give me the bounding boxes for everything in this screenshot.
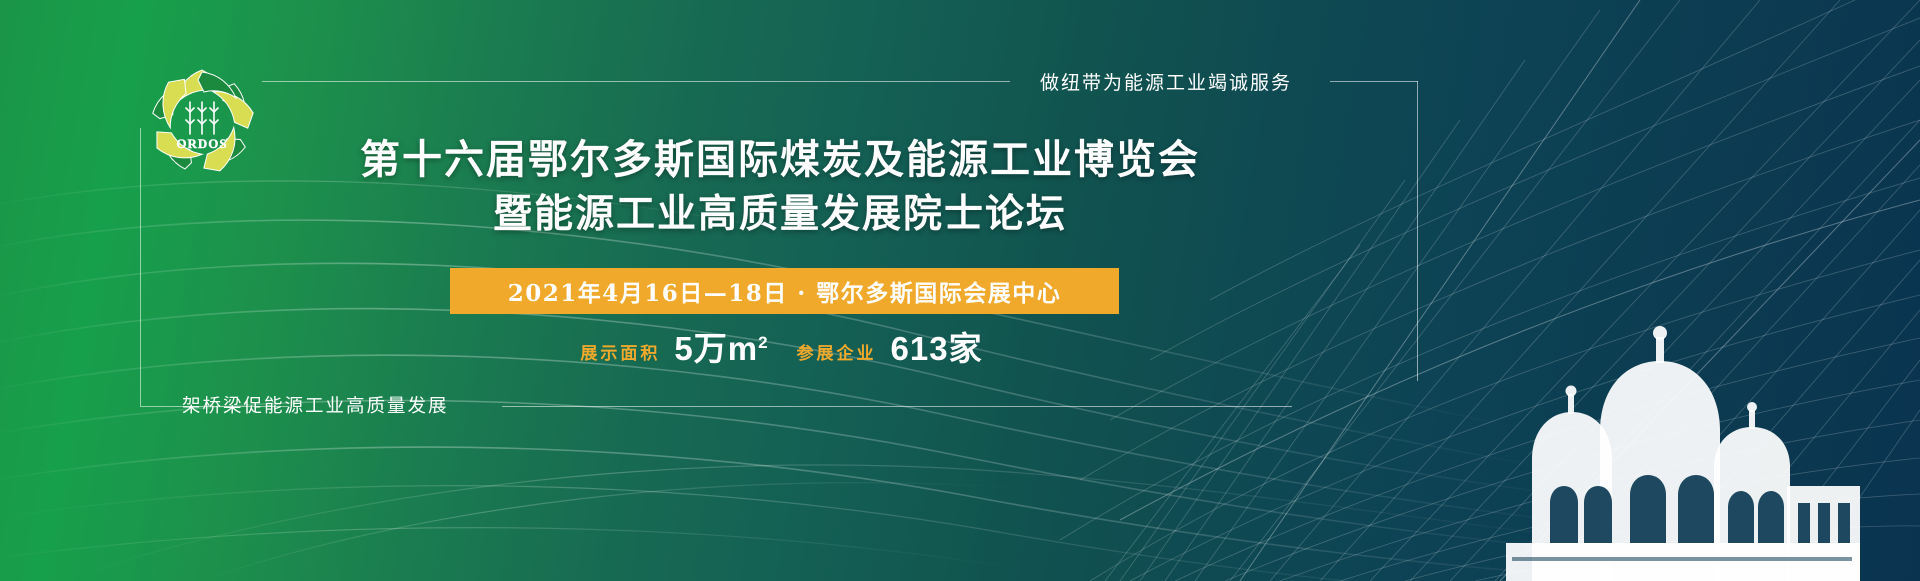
stat-value: 5万m2	[668, 325, 774, 369]
event-banner: ORDOS 做纽带为能源工业竭诚服务 架桥梁促能源工业高质量发展 第十六届鄂尔多…	[0, 0, 1920, 581]
stat-value-number: 613家	[891, 330, 983, 367]
stat-value: 613家	[885, 331, 989, 369]
page-subtitle: 暨能源工业高质量发展院士论坛	[0, 188, 1560, 240]
tagline-top-right: 做纽带为能源工业竭诚服务	[1040, 68, 1292, 95]
date-venue-bar: 2021年4月16日—18日 · 鄂尔多斯国际会展中心	[450, 268, 1119, 314]
tagline-bottom-left: 架桥梁促能源工业高质量发展	[182, 392, 449, 418]
stats-row: 展示面积 5万m2 参展企业 613家	[450, 325, 1119, 369]
stat-value-number: 5万m	[674, 330, 758, 367]
title-block: 第十六届鄂尔多斯国际煤炭及能源工业博览会 暨能源工业高质量发展院士论坛	[0, 134, 1560, 240]
divider-top-right	[1330, 81, 1418, 82]
page-title: 第十六届鄂尔多斯国际煤炭及能源工业博览会	[0, 134, 1560, 186]
dome-building-illustration	[1300, 281, 1860, 581]
stat-label: 展示面积	[580, 339, 660, 369]
date-venue-text: 2021年4月16日—18日 · 鄂尔多斯国际会展中心	[508, 274, 1062, 308]
stat-exhibitor-count: 参展企业 613家	[797, 331, 989, 369]
stat-label: 参展企业	[797, 339, 877, 369]
divider-bottom-right	[502, 406, 1292, 407]
divider-top-left	[262, 81, 1010, 82]
stat-exhibition-area: 展示面积 5万m2	[580, 325, 774, 369]
stat-value-superscript: 2	[758, 333, 768, 352]
